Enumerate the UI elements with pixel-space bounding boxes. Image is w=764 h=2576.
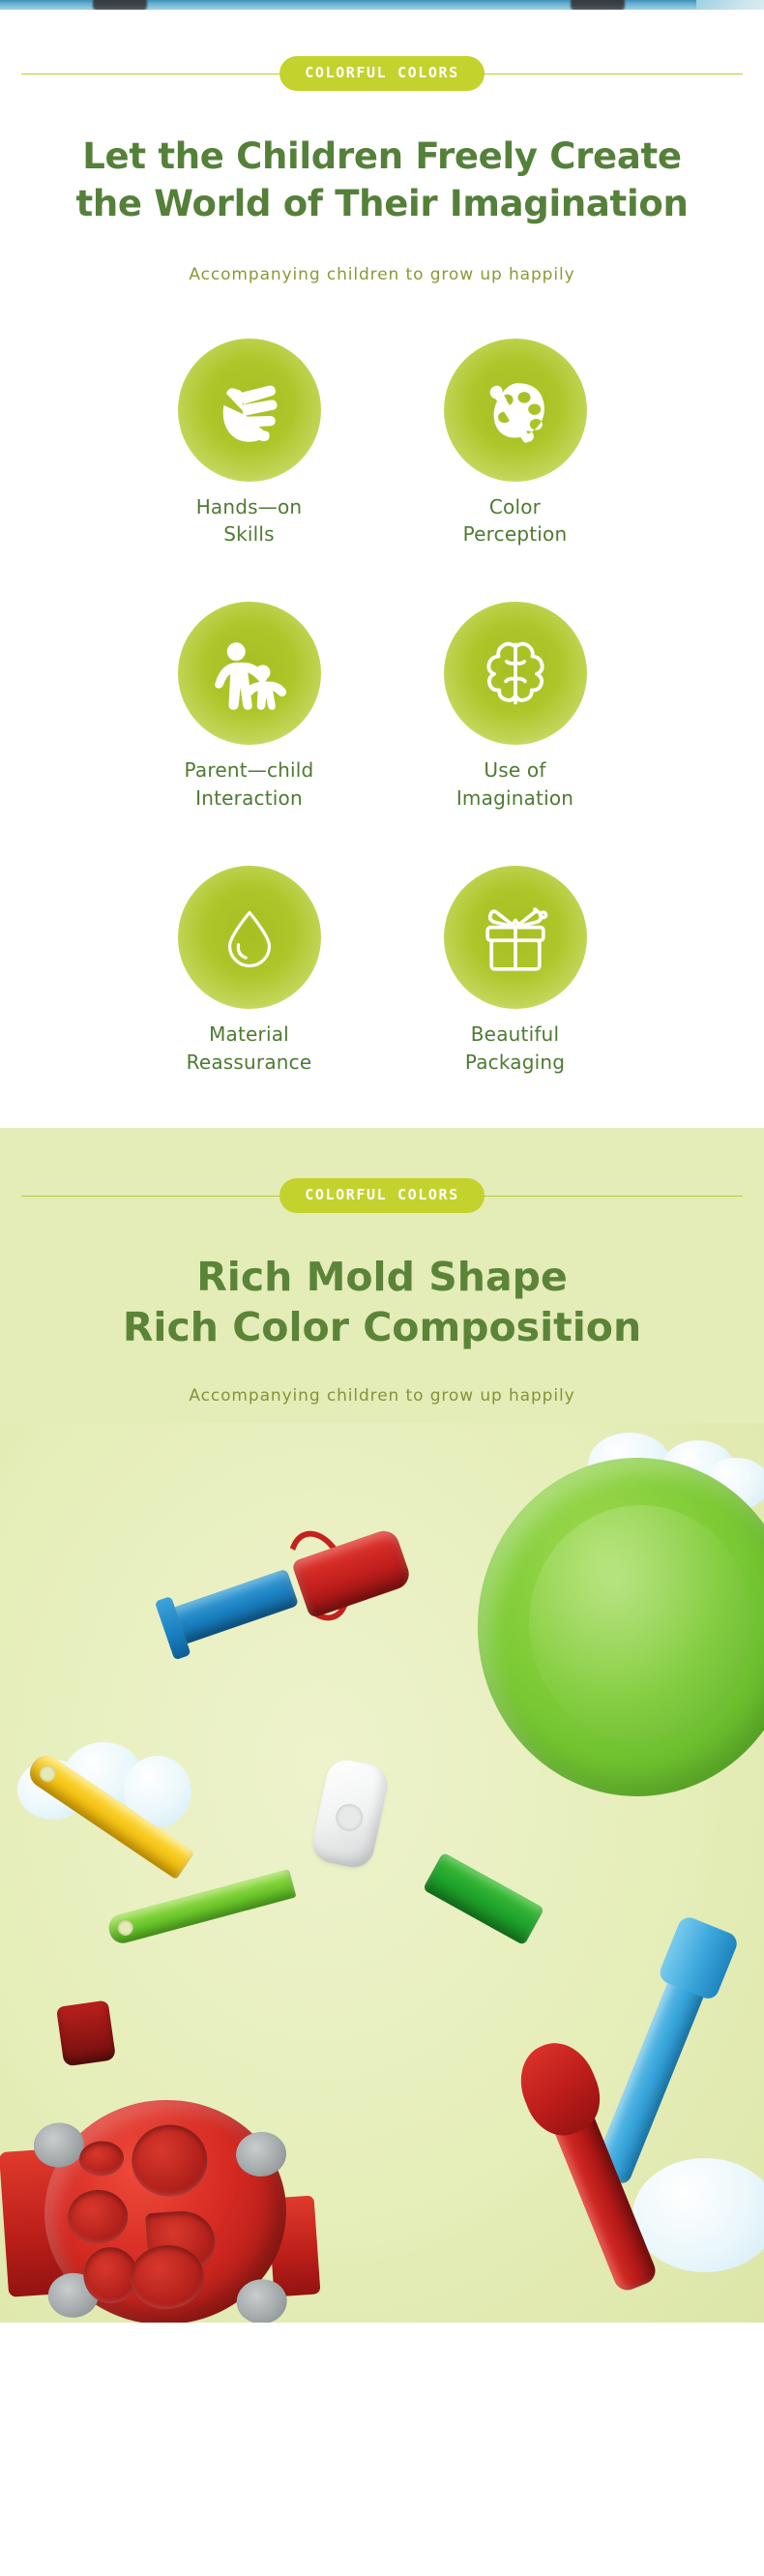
feature-label: Parent—child Interaction	[185, 756, 314, 812]
photo-object-right	[571, 0, 625, 10]
product-showcase-section: COLORFUL COLORS Rich Mold Shape Rich Col…	[0, 1128, 764, 2323]
benefits-section: COLORFUL COLORS Let the Children Freely …	[0, 10, 764, 1128]
headline-line-2: Rich Color Composition	[19, 1302, 745, 1352]
feature-label: Material Reassurance	[187, 1021, 312, 1076]
feature-label: Beautiful Packaging	[465, 1021, 565, 1076]
cloud-shape	[632, 2158, 764, 2272]
feature-label-line-1: Use of	[456, 756, 573, 784]
feature-label-line-2: Packaging	[465, 1049, 565, 1076]
feature-material-reassurance: Material Reassurance	[116, 866, 382, 1076]
feature-label-line-1: Color	[463, 493, 568, 520]
dark-green-wedge	[423, 1852, 544, 1946]
extruder-blue-plunger	[171, 1569, 299, 1645]
play-dough-tools-photo	[0, 1423, 764, 2323]
light-green-knife	[105, 1869, 296, 1946]
feature-beautiful-packaging: Beautiful Packaging	[382, 866, 648, 1076]
headline-line-2: the World of Their Imagination	[23, 181, 741, 228]
dark-red-mold	[56, 1999, 116, 2066]
feature-label-line-1: Hands—on	[196, 493, 303, 520]
section-two-badge: COLORFUL COLORS	[279, 1178, 484, 1213]
feature-hands-on-skills: Hands—on Skills	[116, 339, 382, 548]
feature-label-line-2: Skills	[196, 520, 303, 548]
feature-label-line-1: Beautiful	[465, 1021, 565, 1048]
blue-spatula	[592, 1956, 715, 2186]
feature-label-line-2: Reassurance	[187, 1049, 312, 1076]
feature-label-line-2: Imagination	[456, 785, 573, 812]
feature-grid: Hands—on Skills Color	[0, 339, 764, 1076]
section-one-badge: COLORFUL COLORS	[279, 56, 484, 91]
feature-icon-wrapper	[444, 866, 587, 1009]
water-drop-icon	[219, 899, 280, 976]
palette-brush-icon	[476, 370, 555, 450]
feature-parent-child-interaction: Parent—child Interaction	[116, 602, 382, 812]
mold-cavity	[78, 2140, 125, 2177]
feature-use-of-imagination: Use of Imagination	[382, 602, 648, 812]
divider-line-right	[483, 1196, 743, 1197]
feature-icon-wrapper	[178, 602, 321, 745]
feature-label: Hands—on Skills	[196, 493, 303, 548]
photo-object-left	[93, 0, 147, 10]
mold-cavity	[66, 2188, 130, 2246]
feature-icon-wrapper	[444, 339, 587, 482]
divider-line-left	[21, 1196, 281, 1197]
feature-icon-wrapper	[178, 866, 321, 1009]
headline-line-1: Rich Mold Shape	[19, 1252, 745, 1302]
feature-label: Color Perception	[463, 493, 568, 548]
sky-photo-sliver	[0, 0, 764, 10]
section-one-badge-row: COLORFUL COLORS	[0, 56, 764, 91]
section-two-badge-row: COLORFUL COLORS	[0, 1178, 764, 1213]
feature-label-line-2: Perception	[463, 520, 568, 548]
feature-icon-wrapper	[178, 339, 321, 482]
section-one-headline: Let the Children Freely Create the World…	[0, 133, 764, 228]
headline-line-1: Let the Children Freely Create	[23, 133, 741, 181]
clam-wheel	[235, 2130, 288, 2178]
hand-icon	[208, 369, 291, 452]
parent-child-icon	[208, 632, 291, 715]
gift-box-icon	[475, 899, 556, 976]
section-one-subhead: Accompanying children to grow up happily	[0, 265, 764, 284]
plate-inner-highlight	[529, 1505, 752, 1742]
brain-icon	[479, 635, 552, 712]
divider-line-right	[483, 74, 743, 74]
feature-label-line-1: Parent—child	[185, 756, 314, 784]
feature-label: Use of Imagination	[456, 756, 573, 812]
divider-line-left	[21, 74, 281, 74]
photo-corner-highlight	[696, 0, 764, 10]
white-stamp-roller	[309, 1756, 391, 1871]
feature-icon-wrapper	[444, 602, 587, 745]
feature-color-perception: Color Perception	[382, 339, 648, 548]
feature-label-line-2: Interaction	[185, 785, 314, 812]
green-plate	[478, 1458, 764, 1796]
section-two-headline: Rich Mold Shape Rich Color Composition	[0, 1252, 764, 1353]
feature-label-line-1: Material	[187, 1021, 312, 1048]
red-clam-mold	[37, 2092, 294, 2323]
section-two-subhead: Accompanying children to grow up happily	[0, 1386, 764, 1406]
mold-cavity	[130, 2122, 210, 2199]
